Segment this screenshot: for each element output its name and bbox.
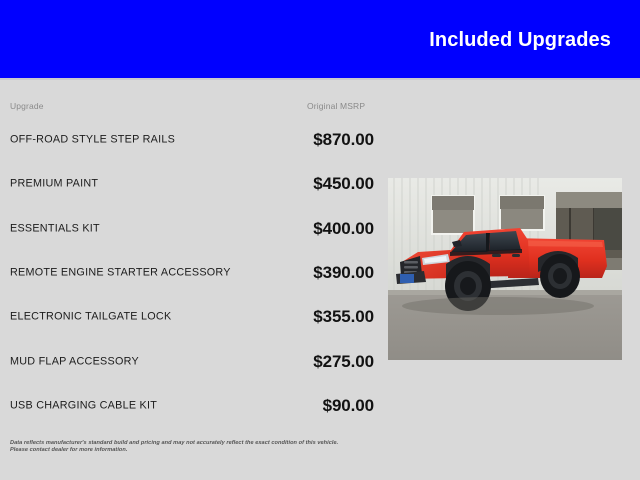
vehicle-photo — [388, 178, 622, 360]
upgrade-name: ESSENTIALS KIT — [10, 222, 260, 236]
upgrades-table: OFF-ROAD STYLE STEP RAILS $870.00 PREMIU… — [0, 118, 380, 428]
upgrade-name: MUD FLAP ACCESSORY — [10, 355, 260, 369]
column-header-msrp: Original MSRP — [307, 101, 365, 111]
header-divider — [0, 78, 640, 80]
upgrade-price: $390.00 — [313, 263, 374, 283]
page-header: Included Upgrades — [0, 0, 640, 78]
table-row: PREMIUM PAINT $450.00 — [0, 162, 380, 206]
upgrade-name: PREMIUM PAINT — [10, 178, 260, 192]
table-row: ELECTRONIC TAILGATE LOCK $355.00 — [0, 295, 380, 339]
upgrade-price: $870.00 — [313, 130, 374, 150]
upgrade-price: $355.00 — [313, 307, 374, 327]
upgrade-price: $400.00 — [313, 219, 374, 239]
column-header-upgrade: Upgrade — [10, 101, 44, 111]
table-row: ESSENTIALS KIT $400.00 — [0, 207, 380, 251]
table-row: OFF-ROAD STYLE STEP RAILS $870.00 — [0, 118, 380, 162]
upgrade-price: $275.00 — [313, 352, 374, 372]
upgrade-name: REMOTE ENGINE STARTER ACCESSORY — [10, 266, 260, 280]
upgrade-price: $450.00 — [313, 174, 374, 194]
disclaimer-line-2: Please contact dealer for more informati… — [10, 447, 410, 454]
included-upgrades-page: Included Upgrades Upgrade Original MSRP … — [0, 0, 640, 480]
page-title: Included Upgrades — [429, 29, 611, 51]
disclaimer: Data reflects manufacturer's standard bu… — [10, 440, 410, 455]
table-row: REMOTE ENGINE STARTER ACCESSORY $390.00 — [0, 251, 380, 295]
upgrade-price: $90.00 — [323, 396, 374, 416]
upgrade-name: ELECTRONIC TAILGATE LOCK — [10, 311, 260, 325]
table-row: USB CHARGING CABLE KIT $90.00 — [0, 384, 380, 428]
upgrade-name: USB CHARGING CABLE KIT — [10, 399, 260, 413]
upgrade-name: OFF-ROAD STYLE STEP RAILS — [10, 133, 260, 147]
table-row: MUD FLAP ACCESSORY $275.00 — [0, 339, 380, 383]
disclaimer-line-1: Data reflects manufacturer's standard bu… — [10, 440, 410, 447]
